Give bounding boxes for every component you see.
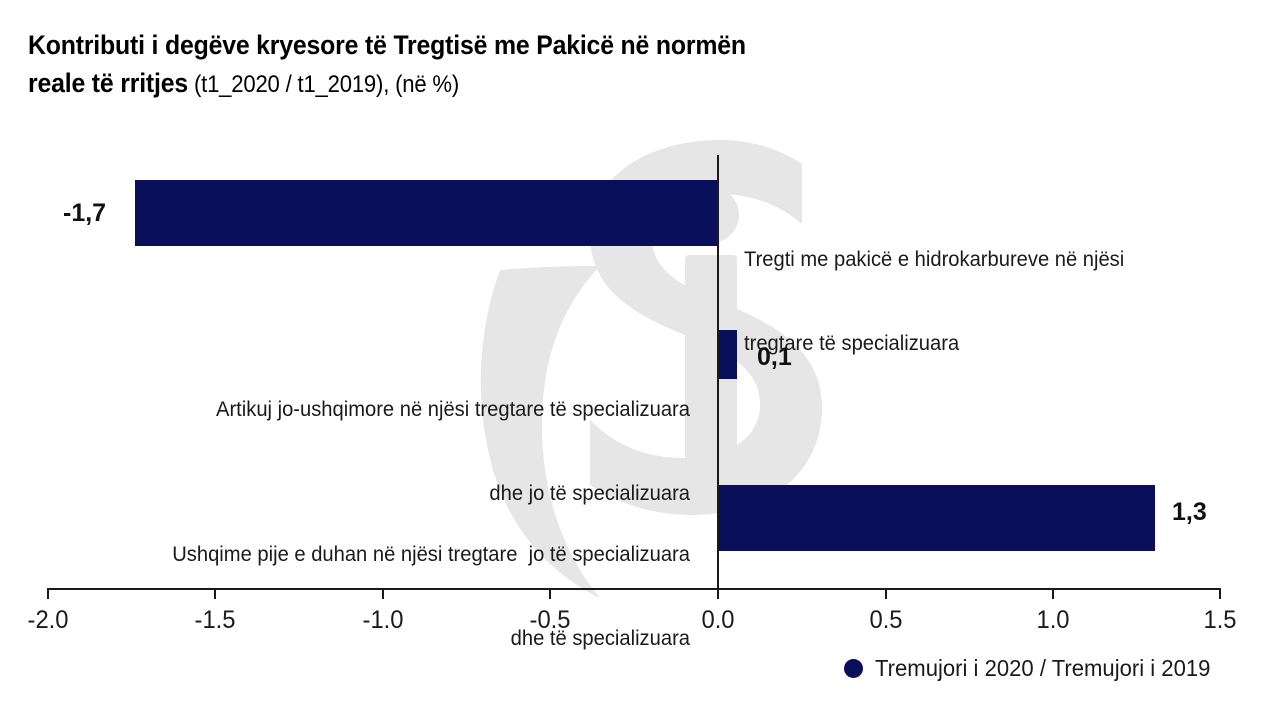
- category-label-ushqime-line2: dhe të specializuara: [127, 625, 690, 653]
- category-label-artikuj-line1: Artikuj jo-ushqimore në njësi tregtare t…: [166, 396, 690, 424]
- category-label-ushqime-pije-duhan: Ushqime pije e duhan në njësi tregtare j…: [127, 485, 690, 709]
- value-label-ushqime-pije-duhan: 1,3: [1172, 498, 1207, 527]
- x-tick-label-5: 0.5: [829, 606, 943, 635]
- x-tick-0: [47, 588, 49, 599]
- legend-label: Tremujori i 2020 / Tremujori i 2019: [875, 655, 1210, 682]
- x-tick-label-6: 1.0: [996, 606, 1110, 635]
- x-tick-label-0: -2.0: [0, 606, 105, 635]
- legend-marker-icon: [844, 659, 863, 678]
- bar-ushqime-pije-duhan[interactable]: [718, 485, 1155, 551]
- x-tick-7: [1219, 588, 1221, 599]
- zero-axis-line: [717, 155, 719, 589]
- bar-hidrokarbure[interactable]: [135, 180, 718, 246]
- category-label-hidrokarbure-line2: tregtare të specializuara: [744, 330, 1195, 358]
- bar-artikuj-jo-ushqimore[interactable]: [718, 330, 737, 379]
- chart-legend: Tremujori i 2020 / Tremujori i 2019: [844, 655, 1224, 682]
- x-tick-6: [1052, 588, 1054, 599]
- x-tick-label-7: 1.5: [1163, 606, 1277, 635]
- x-tick-4: [717, 588, 719, 599]
- category-label-hidrokarbure-line1: Tregti me pakicë e hidrokarbureve në një…: [744, 246, 1195, 274]
- x-tick-5: [885, 588, 887, 599]
- value-label-hidrokarbure: -1,7: [63, 199, 106, 228]
- chart-page: Kontributi i degëve kryesore të Tregtisë…: [0, 0, 1280, 720]
- category-label-hidrokarbure: Tregti me pakicë e hidrokarbureve në një…: [744, 190, 1195, 414]
- category-label-ushqime-line1: Ushqime pije e duhan në njësi tregtare j…: [127, 541, 690, 569]
- chart-plot-area: -1,7 0,1 1,3 Tregti me pakicë e hidrokar…: [0, 0, 1280, 720]
